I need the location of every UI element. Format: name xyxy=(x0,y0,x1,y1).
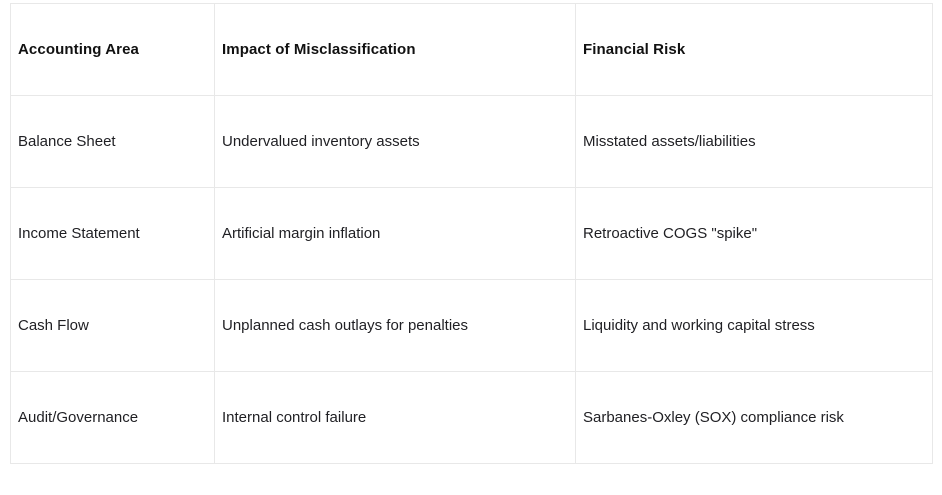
table-container: Accounting Area Impact of Misclassificat… xyxy=(10,3,932,464)
table-row: Cash Flow Unplanned cash outlays for pen… xyxy=(11,280,933,372)
cell-financial-risk: Misstated assets/liabilities xyxy=(576,96,933,188)
cell-accounting-area: Cash Flow xyxy=(11,280,215,372)
column-header-financial-risk: Financial Risk xyxy=(576,4,933,96)
cell-impact: Internal control failure xyxy=(215,372,576,464)
cell-impact: Undervalued inventory assets xyxy=(215,96,576,188)
table-row: Income Statement Artificial margin infla… xyxy=(11,188,933,280)
cell-financial-risk: Sarbanes-Oxley (SOX) compliance risk xyxy=(576,372,933,464)
table-body: Balance Sheet Undervalued inventory asse… xyxy=(11,96,933,464)
cell-financial-risk: Liquidity and working capital stress xyxy=(576,280,933,372)
cell-accounting-area: Income Statement xyxy=(11,188,215,280)
cell-accounting-area: Audit/Governance xyxy=(11,372,215,464)
table-header: Accounting Area Impact of Misclassificat… xyxy=(11,4,933,96)
cell-accounting-area: Balance Sheet xyxy=(11,96,215,188)
column-header-impact-of-misclassification: Impact of Misclassification xyxy=(215,4,576,96)
accounting-impact-table: Accounting Area Impact of Misclassificat… xyxy=(10,3,933,464)
table-row: Audit/Governance Internal control failur… xyxy=(11,372,933,464)
cell-financial-risk: Retroactive COGS "spike" xyxy=(576,188,933,280)
cell-impact: Artificial margin inflation xyxy=(215,188,576,280)
cell-impact: Unplanned cash outlays for penalties xyxy=(215,280,576,372)
table-row: Balance Sheet Undervalued inventory asse… xyxy=(11,96,933,188)
table-header-row: Accounting Area Impact of Misclassificat… xyxy=(11,4,933,96)
page-root: Accounting Area Impact of Misclassificat… xyxy=(0,0,942,495)
column-header-accounting-area: Accounting Area xyxy=(11,4,215,96)
